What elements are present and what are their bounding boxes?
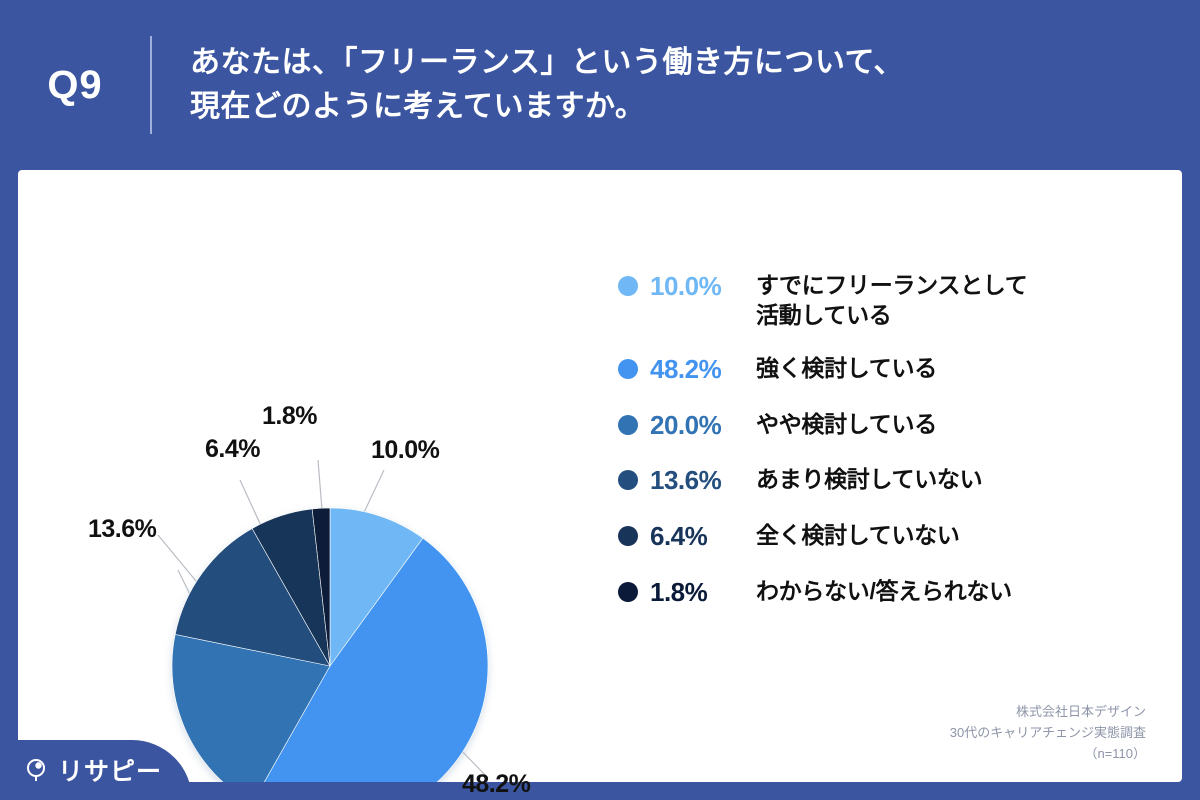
legend-label-3: あまり検討していない (756, 464, 982, 494)
legend-label-0: すでにフリーランスとして 活動している (756, 270, 1027, 331)
legend-dot-icon-2 (618, 415, 638, 435)
attribution-company: 株式会社日本デザイン (950, 701, 1146, 722)
legend-item-3[interactable]: 13.6% あまり検討していない (618, 464, 1182, 498)
legend-label-2: やや検討している (756, 409, 937, 439)
legend-dot-icon-1 (618, 359, 638, 379)
legend-percent-0: 10.0% (638, 270, 756, 304)
attribution-sample-size: （n=110） (950, 743, 1146, 764)
legend-item-5[interactable]: 1.8% わからない/答えられない (618, 576, 1182, 610)
callout-6: 6.4% (205, 435, 260, 464)
legend-percent-2: 20.0% (638, 409, 756, 443)
legend-item-4[interactable]: 6.4% 全く検討していない (618, 520, 1182, 554)
pie-chart-svg (18, 170, 618, 782)
legend-dot-icon-0 (618, 276, 638, 296)
legend-label-5: わからない/答えられない (756, 576, 1012, 606)
legend-label-0-line-2: 活動している (756, 300, 1027, 330)
legend-label-0-line-1: すでにフリーランスとして (756, 270, 1027, 300)
legend-label-1: 強く検討している (756, 353, 937, 383)
legend-item-0[interactable]: 10.0% すでにフリーランスとして 活動している (618, 270, 1182, 331)
chart-legend: 10.0% すでにフリーランスとして 活動している 48.2% 強く検討している… (618, 270, 1182, 632)
pie-slices[interactable] (172, 508, 488, 782)
question-number: Q9 (0, 63, 150, 108)
page-title-line-2: 現在どのように考えていますか。 (190, 85, 904, 129)
legend-label-5-line-1: わからない/答えられない (756, 576, 1012, 606)
legend-dot-icon-5 (618, 582, 638, 602)
legend-item-1[interactable]: 48.2% 強く検討している (618, 353, 1182, 387)
legend-label-3-line-1: あまり検討していない (756, 464, 982, 494)
callout-48: 48.2% (462, 770, 530, 799)
legend-label-4-line-1: 全く検討していない (756, 520, 960, 550)
legend-percent-3: 13.6% (638, 464, 756, 498)
brand-logo-text: リサピー (58, 752, 162, 788)
legend-percent-5: 1.8% (638, 576, 756, 610)
legend-dot-icon-3 (618, 470, 638, 490)
legend-item-2[interactable]: 20.0% やや検討している (618, 409, 1182, 443)
chart-card: 10.0% 48.2% 20.0% 13.6% 6.4% 1.8% 10.0% … (18, 170, 1182, 782)
callout-1: 1.8% (262, 402, 317, 431)
attribution-survey: 30代のキャリアチェンジ実態調査 (950, 722, 1146, 743)
legend-label-4: 全く検討していない (756, 520, 960, 550)
attribution: 株式会社日本デザイン 30代のキャリアチェンジ実態調査 （n=110） (950, 701, 1146, 764)
page-title: あなたは、「フリーランス」という働き方について、 現在どのように考えていますか。 (152, 41, 904, 130)
page-title-line-1: あなたは、「フリーランス」という働き方について、 (190, 41, 904, 85)
callout-13: 13.6% (88, 515, 156, 544)
legend-label-1-line-1: 強く検討している (756, 353, 937, 383)
callout-10: 10.0% (371, 436, 439, 465)
legend-dot-icon-4 (618, 526, 638, 546)
legend-percent-4: 6.4% (638, 520, 756, 554)
brand-logo[interactable]: リサピー (0, 740, 192, 800)
magnifier-icon (24, 757, 50, 783)
pie-chart-area: 10.0% 48.2% 20.0% 13.6% 6.4% 1.8% (18, 170, 618, 782)
header-banner: Q9 あなたは、「フリーランス」という働き方について、 現在どのように考えていま… (0, 0, 1200, 170)
legend-percent-1: 48.2% (638, 353, 756, 387)
legend-label-2-line-1: やや検討している (756, 409, 937, 439)
